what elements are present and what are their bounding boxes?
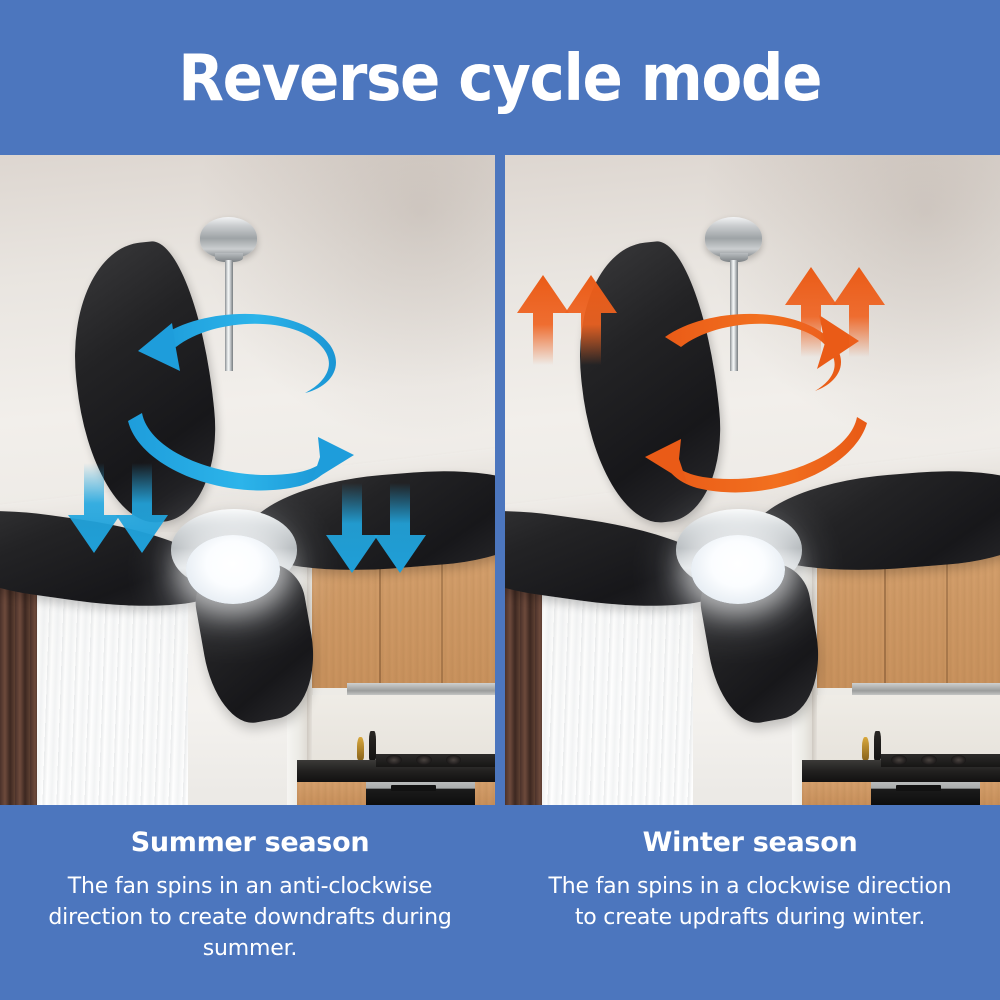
panel-winter[interactable]: [505, 155, 1000, 805]
caption-body-winter: The fan spins in a clockwise direction t…: [540, 871, 960, 933]
updraft-arrow-icon: [565, 275, 617, 365]
caption-title-winter: Winter season: [500, 827, 1000, 858]
downdraft-arrow-icon: [68, 463, 120, 553]
infographic-page: Reverse cycle mode: [0, 0, 1000, 1000]
downdraft-arrow-icon: [374, 483, 426, 573]
downdraft-arrow-icon: [116, 463, 168, 553]
caption-body-summer: The fan spins in an anti-clockwise direc…: [40, 871, 460, 964]
airflow-arrows-summer: [0, 155, 495, 805]
page-title: Reverse cycle mode: [179, 47, 822, 111]
downdraft-arrow-icon: [326, 483, 378, 573]
caption-summer: Summer season The fan spins in an anti-c…: [0, 805, 500, 1000]
caption-row: Summer season The fan spins in an anti-c…: [0, 805, 1000, 1000]
updraft-arrow-icon: [517, 275, 569, 365]
rotation-arrow-lower-icon: [128, 413, 354, 490]
panel-row: [0, 155, 1000, 805]
airflow-arrows-winter: [505, 155, 1000, 805]
header-banner: Reverse cycle mode: [0, 0, 1000, 155]
rotation-arrow-lower-icon: [645, 417, 867, 492]
panel-summer[interactable]: [0, 155, 495, 805]
rotation-arrow-upper-icon: [138, 314, 336, 393]
caption-title-summer: Summer season: [0, 827, 500, 858]
caption-winter: Winter season The fan spins in a clockwi…: [500, 805, 1000, 1000]
rotation-arrow-upper-icon: [665, 314, 859, 391]
